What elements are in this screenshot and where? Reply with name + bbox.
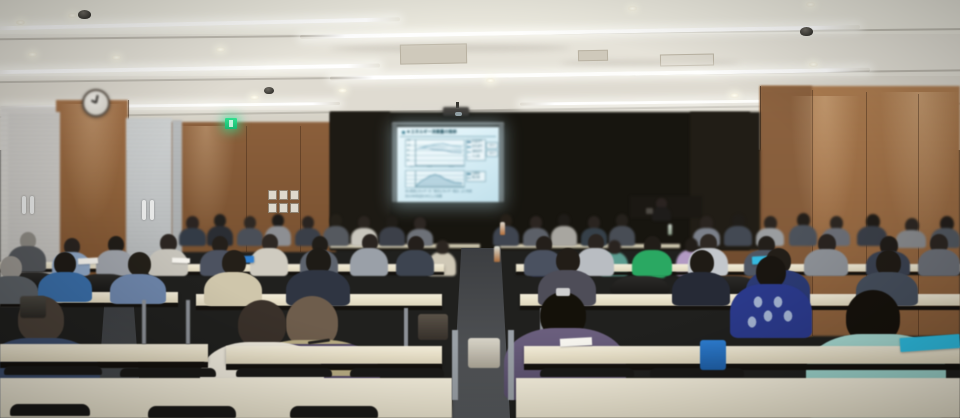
water-bottle[interactable] [494,246,500,262]
legend-swatch [467,173,471,175]
desk-row-front-right [524,346,960,364]
ceiling-dome-speaker-icon [800,27,813,36]
exit-sign-icon [225,118,237,129]
ceiling-downlight [250,95,259,100]
wall-switch-panel[interactable] [268,203,277,213]
ceiling-downlight [806,2,815,7]
ceiling-downlight [28,52,37,57]
hair-clip [556,288,570,296]
chart-x-tick: 2015 [449,166,461,168]
wall-switch-panel[interactable] [290,190,299,200]
chart-y-tick: 90 [407,149,415,152]
ceiling-downlight [486,78,495,83]
ceiling-downlight [628,6,637,11]
slide-value-label: 100.0 [486,142,498,149]
screen-right-frame [499,124,504,202]
shopping-bag[interactable] [468,338,500,368]
chart-y-tick: 150 [407,139,415,142]
ceiling-vent [400,43,467,64]
center-aisle-carpet [452,248,510,418]
door-handle[interactable] [142,200,146,220]
desk-row-closest-right [516,378,960,418]
desk-row-front-center [226,346,442,364]
desk-leg [452,330,458,400]
door-handle[interactable] [150,200,154,220]
chair-back[interactable] [540,368,634,377]
ceiling-downlight [68,13,77,18]
chair-back[interactable] [4,366,102,375]
ceiling-downlight [112,55,121,60]
ceiling-vent [578,50,608,62]
desk-leg [404,308,408,348]
wall-switch-panel[interactable] [290,203,299,213]
wall-light-glow [60,104,124,224]
blue-bag[interactable] [700,340,726,370]
legend-swatch [467,151,471,153]
legend-swatch [467,156,471,158]
door-handle[interactable] [30,196,34,214]
ceiling-vent [660,54,714,67]
chair-back[interactable] [290,406,378,418]
chair-back[interactable] [120,368,216,377]
desk-leg [142,300,146,344]
chart-bottom-series-svg [406,171,464,187]
water-bottle[interactable] [500,222,505,235]
presenter-body [652,207,671,221]
screen-top-bar [392,122,504,125]
slide-chart-bottom [405,170,465,188]
lecture-hall-photo: ■ エネルギー消費量の推移 150 120 90 60 30 1990 2000 [0,0,960,418]
legend-swatch [467,146,471,148]
chart-x-tick: 1990 [409,166,421,168]
chair-back[interactable] [148,406,236,418]
wall-switch-panel[interactable] [268,190,277,200]
ceiling-dome-speaker-icon [264,87,274,94]
wall-clock [82,89,110,117]
ceiling-downlight [730,93,739,98]
slide-chart-top: 150 120 90 60 30 [405,139,465,167]
chart-y-tick: 60 [407,154,415,157]
projection-screen: ■ エネルギー消費量の推移 150 120 90 60 30 1990 2000 [397,127,499,202]
chart-top-series-svg [406,140,464,166]
chart-y-tick: 120 [407,144,415,147]
legend-label: 運輸部門 [472,149,484,153]
slide-title-rule [400,136,496,137]
bag[interactable] [20,296,46,318]
legend-label: その他 [472,154,484,158]
chair-back[interactable] [610,276,670,296]
desk-row-front-left [0,344,208,362]
camera-equipment [646,208,653,214]
chair-back[interactable] [236,368,332,377]
projector-lens-icon [455,112,462,116]
slide-footnote-1: 注1)資源エネルギー庁「総合エネルギー統計」より作成 [405,189,493,193]
chart-x-tick: 2000 [427,166,439,168]
backpack[interactable] [418,314,448,340]
handout-paper[interactable] [172,258,190,264]
slide-title-bullet-icon [402,131,405,134]
desk-leg [186,300,190,344]
attendee-head [436,240,449,254]
ceiling-downlight [809,62,818,67]
slide-footnote-2: 注2)1990年度を100とした指数 [405,194,493,198]
legend-label: 民生部門 [472,144,484,148]
wall-switch-panel[interactable] [279,190,288,200]
handout-paper[interactable] [560,337,592,347]
cardigan-pattern [744,292,800,334]
wall-switch-panel[interactable] [279,203,288,213]
ceiling-dome-speaker-icon [78,10,91,19]
chair-back[interactable] [350,368,444,377]
door-handle[interactable] [22,196,26,214]
ceiling-downlight [216,47,225,52]
legend-swatch [467,177,471,179]
legend-label: 産業部門 [472,139,484,143]
desk-leg [508,330,514,400]
chart-y-tick: 30 [407,159,415,162]
attendee-head [608,240,621,254]
wall-light-glow [176,126,236,236]
slide-title: ■ エネルギー消費量の推移 [407,129,491,134]
legend-label: 推計値 [472,175,484,179]
legend-swatch [467,141,471,143]
chair-back[interactable] [10,404,90,416]
ceiling-downlight [338,88,347,93]
ceiling-downlight [16,20,25,25]
handout-paper[interactable] [78,257,98,264]
water-bottle [668,224,672,235]
slide-value-label: 118.4 [486,150,498,157]
chair-back[interactable] [650,368,744,377]
